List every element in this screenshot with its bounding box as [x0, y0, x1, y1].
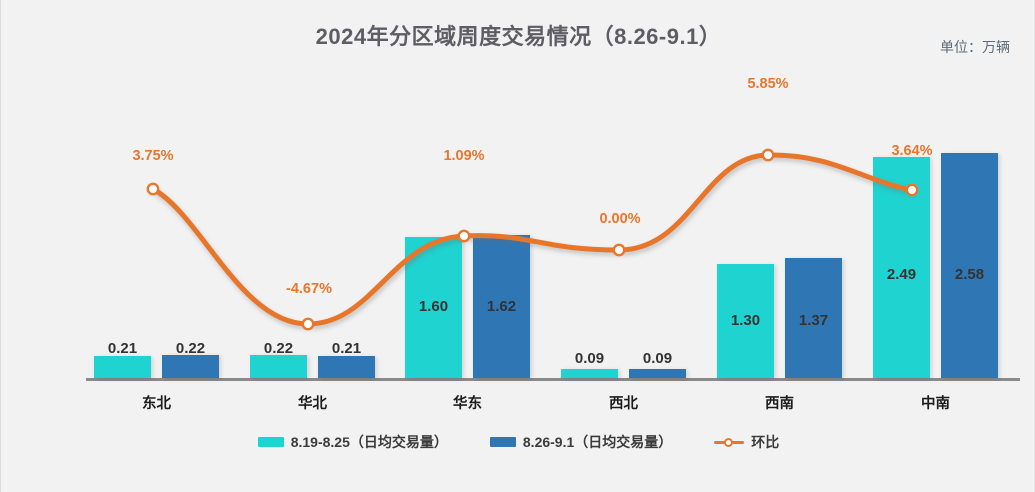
x-tick-label-2: 华东: [405, 392, 530, 413]
x-tick-label-3: 西北: [561, 392, 686, 413]
legend-swatch-icon-series2: [490, 437, 516, 447]
line-value-3: 0.00%: [570, 211, 670, 227]
legend-swatch-icon-series1: [258, 437, 284, 447]
line-value-1: -4.67%: [259, 281, 359, 297]
legend-label-series2: 8.26-9.1（日均交易量）: [523, 432, 672, 452]
trend-line-path: [153, 155, 912, 324]
trend-line-chart: [1, 0, 1035, 492]
line-marker-5[interactable]: [907, 185, 917, 195]
chart-card: 2024年分区域周度交易情况（8.26-9.1） 单位：万辆 0.21 0.22…: [0, 0, 1035, 492]
x-tick-label-5: 中南: [873, 392, 998, 413]
line-marker-2[interactable]: [459, 231, 469, 241]
chart-legend: 8.19-8.25（日均交易量） 8.26-9.1（日均交易量） 环比: [1, 432, 1035, 452]
legend-label-series1: 8.19-8.25（日均交易量）: [291, 432, 448, 452]
x-tick-label-1: 华北: [250, 392, 375, 413]
line-marker-3[interactable]: [614, 245, 624, 255]
line-value-0: 3.75%: [103, 148, 203, 164]
legend-line-dot-icon: [724, 438, 733, 447]
legend-line-marker-icon: [714, 437, 744, 447]
x-tick-label-0: 东北: [94, 392, 219, 413]
legend-item-series1[interactable]: 8.19-8.25（日均交易量）: [258, 432, 448, 452]
legend-item-line[interactable]: 环比: [714, 432, 779, 452]
line-marker-4[interactable]: [763, 150, 773, 160]
legend-item-series2[interactable]: 8.26-9.1（日均交易量）: [490, 432, 672, 452]
plot-area: 0.21 0.22 1.60 0.09 1.30 2.49 0.22 0.21 …: [1, 0, 1035, 492]
line-value-2: 1.09%: [414, 148, 514, 164]
line-value-5: 3.64%: [837, 143, 987, 159]
line-value-4: 5.85%: [718, 76, 818, 92]
line-marker-0[interactable]: [148, 184, 158, 194]
legend-label-line: 环比: [751, 432, 779, 452]
line-marker-1[interactable]: [303, 319, 313, 329]
x-tick-label-4: 西南: [717, 392, 842, 413]
